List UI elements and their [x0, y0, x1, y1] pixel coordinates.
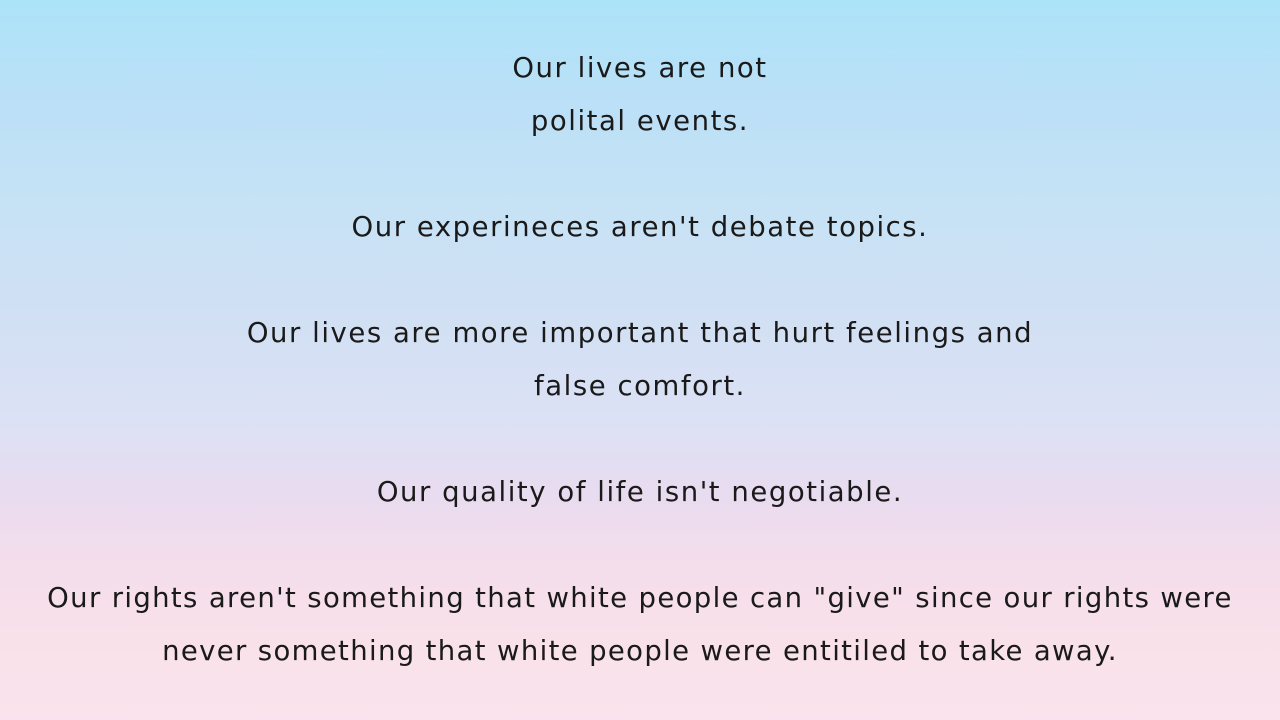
quote-block-4: Our quality of life isn't negotiable.	[28, 466, 1252, 519]
quote-line: polital events.	[28, 95, 1252, 148]
quote-line: Our lives are not	[28, 42, 1252, 95]
quote-line: Our lives are more important that hurt f…	[28, 307, 1252, 360]
quote-text-body: Our lives are not polital events. Our ex…	[0, 0, 1280, 720]
quote-line: never something that white people were e…	[28, 625, 1252, 678]
quote-line: Our quality of life isn't negotiable.	[28, 466, 1252, 519]
quote-line: Our rights aren't something that white p…	[28, 572, 1252, 625]
quote-canvas: Our lives are not polital events. Our ex…	[0, 0, 1280, 720]
quote-line: false comfort.	[28, 360, 1252, 413]
quote-block-1: Our lives are not polital events.	[28, 42, 1252, 148]
quote-block-5: Our rights aren't something that white p…	[28, 572, 1252, 678]
quote-line: Our experineces aren't debate topics.	[28, 201, 1252, 254]
quote-block-3: Our lives are more important that hurt f…	[28, 307, 1252, 413]
quote-block-2: Our experineces aren't debate topics.	[28, 201, 1252, 254]
